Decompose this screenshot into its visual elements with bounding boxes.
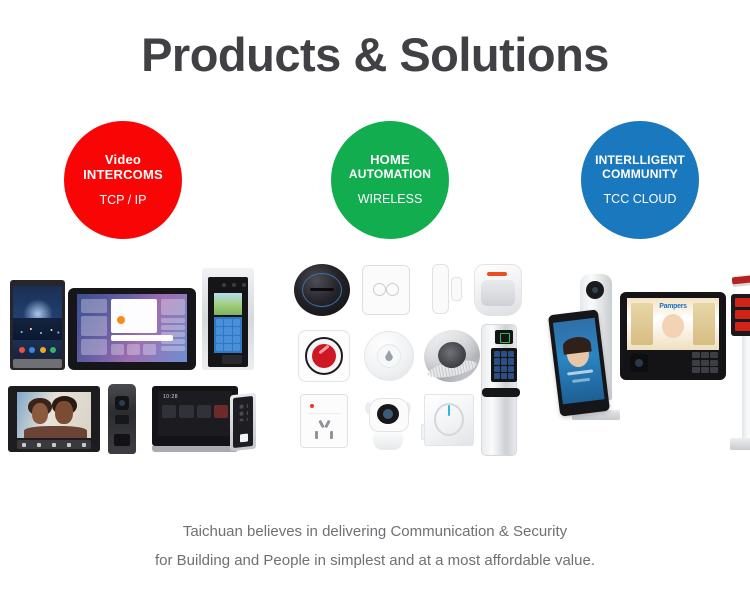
product-group-intelligent-community: Pampers: [550, 258, 748, 473]
tagline: Taichuan believes in delivering Communic…: [0, 517, 750, 575]
device-wall-light-switch: [362, 265, 410, 315]
device-emergency-panic-button: [298, 330, 350, 382]
category-circle-home-automation[interactable]: HOME AUTOMATION WIRELESS: [331, 121, 449, 239]
ad-brand-label: Pampers: [654, 303, 692, 310]
device-smart-speaker-hub: [294, 264, 350, 316]
tagline-line-2: for Building and People in simplest and …: [0, 546, 750, 575]
device-door-window-contact-sensor: [432, 264, 462, 314]
category-line2: INTERCOMS: [83, 168, 163, 183]
device-video-door-phone-monitor: [8, 386, 100, 452]
device-indoor-monitor-with-door-panel: 10:28: [152, 386, 256, 452]
category-line1: INTERLLIGENT: [595, 154, 685, 168]
category-line2: AUTOMATION: [349, 168, 431, 182]
device-slim-outdoor-station: [108, 384, 136, 454]
device-smoke-detector: [424, 330, 480, 382]
tagline-line-1: Taichuan believes in delivering Communic…: [0, 517, 750, 546]
device-ip-camera: [364, 392, 412, 450]
device-pole-mounted-led-display: [726, 268, 750, 450]
product-showcase: 10:28: [0, 258, 750, 473]
device-pir-motion-detector: [474, 264, 522, 316]
device-indoor-tablet-portrait: [10, 280, 65, 370]
category-line2: COMMUNITY: [602, 168, 678, 182]
device-indoor-tablet-landscape: [68, 288, 196, 370]
monitor-time-label: 10:28: [163, 394, 178, 400]
category-circle-video-intercoms[interactable]: Video INTERCOMS TCP / IP: [64, 121, 182, 239]
category-line1: Video: [105, 153, 141, 168]
device-face-recognition-terminal: [554, 274, 626, 424]
device-smart-door-lock: [476, 324, 520, 454]
device-water-leak-sensor: [364, 331, 414, 381]
product-group-video-intercoms: 10:28: [4, 258, 260, 473]
product-group-home-automation: [290, 258, 525, 473]
category-circle-intelligent-community[interactable]: INTERLLIGENT COMMUNITY TCC CLOUD: [581, 121, 699, 239]
category-subtitle: TCC CLOUD: [604, 192, 677, 206]
category-line1: HOME: [370, 153, 410, 168]
category-subtitle: TCP / IP: [99, 193, 146, 207]
category-subtitle: WIRELESS: [358, 192, 423, 206]
device-smart-thermostat: [424, 394, 474, 446]
device-advertising-access-panel: Pampers: [620, 292, 726, 380]
device-smart-wall-socket: [300, 394, 348, 448]
device-outdoor-door-station-keypad: [202, 268, 254, 370]
